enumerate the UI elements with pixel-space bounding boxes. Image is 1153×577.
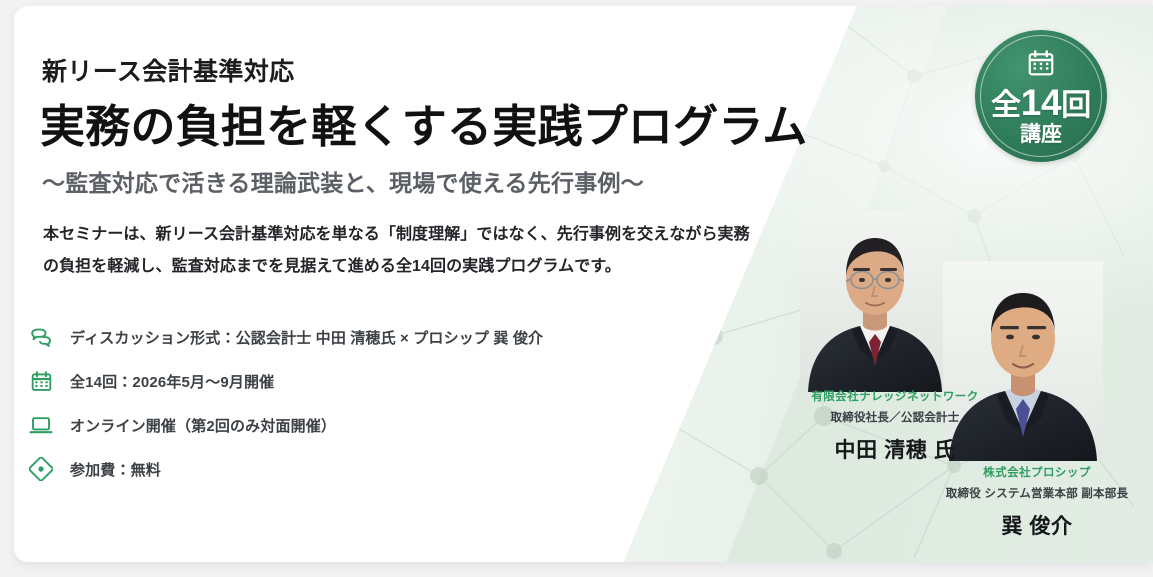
meta-item-label: 全14回：2026年5月〜9月開催 — [70, 371, 274, 392]
badge-sub-text: 講座 — [1020, 123, 1062, 146]
speaker-photo-nakata — [800, 210, 950, 392]
banner-root: 新リース会計基準対応 実務の負担を軽くする実践プログラム 〜監査対応で活きる理論… — [0, 0, 1153, 577]
speaker-name: 巽 俊介 — [906, 510, 1153, 540]
eyebrow-text: 新リース会計基準対応 — [42, 52, 295, 88]
meta-item-format: ディスカッション形式：公認会計士 中田 清穂氏 × プロシップ 巽 俊介 — [28, 324, 543, 350]
speaker-title: 取締役 システム営業本部 副本部長 — [906, 485, 1153, 501]
speaker-org: 株式会社プロシップ — [906, 464, 1153, 480]
meta-item-label: 参加費：無料 — [70, 459, 161, 480]
calendar-icon — [1026, 48, 1056, 83]
meta-item-venue: オンライン開催（第2回のみ対面開催） — [28, 412, 543, 438]
meta-item-fee: 参加費：無料 — [28, 456, 543, 482]
meta-list: ディスカッション形式：公認会計士 中田 清穂氏 × プロシップ 巽 俊介 — [28, 324, 543, 482]
meta-item-label: ディスカッション形式：公認会計士 中田 清穂氏 × プロシップ 巽 俊介 — [70, 327, 543, 348]
meta-item-label: オンライン開催（第2回のみ対面開催） — [70, 415, 336, 436]
speaker-caption-tatsumi: 株式会社プロシップ 取締役 システム営業本部 副本部長 巽 俊介 — [906, 464, 1153, 540]
discussion-bubbles-icon — [28, 324, 54, 350]
status-badge: 全14回 講座 — [975, 30, 1107, 162]
page-title: 実務の負担を軽くする実践プログラム — [40, 90, 807, 155]
ticket-tag-icon — [28, 456, 54, 482]
laptop-icon — [28, 412, 54, 438]
banner-card: 新リース会計基準対応 実務の負担を軽くする実践プログラム 〜監査対応で活きる理論… — [14, 6, 1153, 562]
speaker-name: 中田 清穂 氏 — [766, 434, 1024, 464]
badge-main-text: 全14回 — [991, 84, 1091, 123]
badge-prefix: 全 — [991, 89, 1021, 122]
speaker-title: 取締役社長／公認会計士 — [766, 409, 1024, 425]
calendar-icon — [28, 368, 54, 394]
meta-item-schedule: 全14回：2026年5月〜9月開催 — [28, 368, 543, 394]
subtitle-text: 〜監査対応で活きる理論武装と、現場で使える先行事例〜 — [42, 164, 644, 198]
lead-paragraph: 本セミナーは、新リース会計基準対応を単なる「制度理解」ではなく、先行事例を交えな… — [43, 219, 755, 283]
speaker-org: 有限会社ナレッジネットワーク — [766, 388, 1024, 404]
badge-count: 14 — [1021, 82, 1062, 123]
badge-suffix: 回 — [1061, 89, 1091, 122]
speaker-caption-nakata: 有限会社ナレッジネットワーク 取締役社長／公認会計士 中田 清穂 氏 — [766, 388, 1024, 464]
